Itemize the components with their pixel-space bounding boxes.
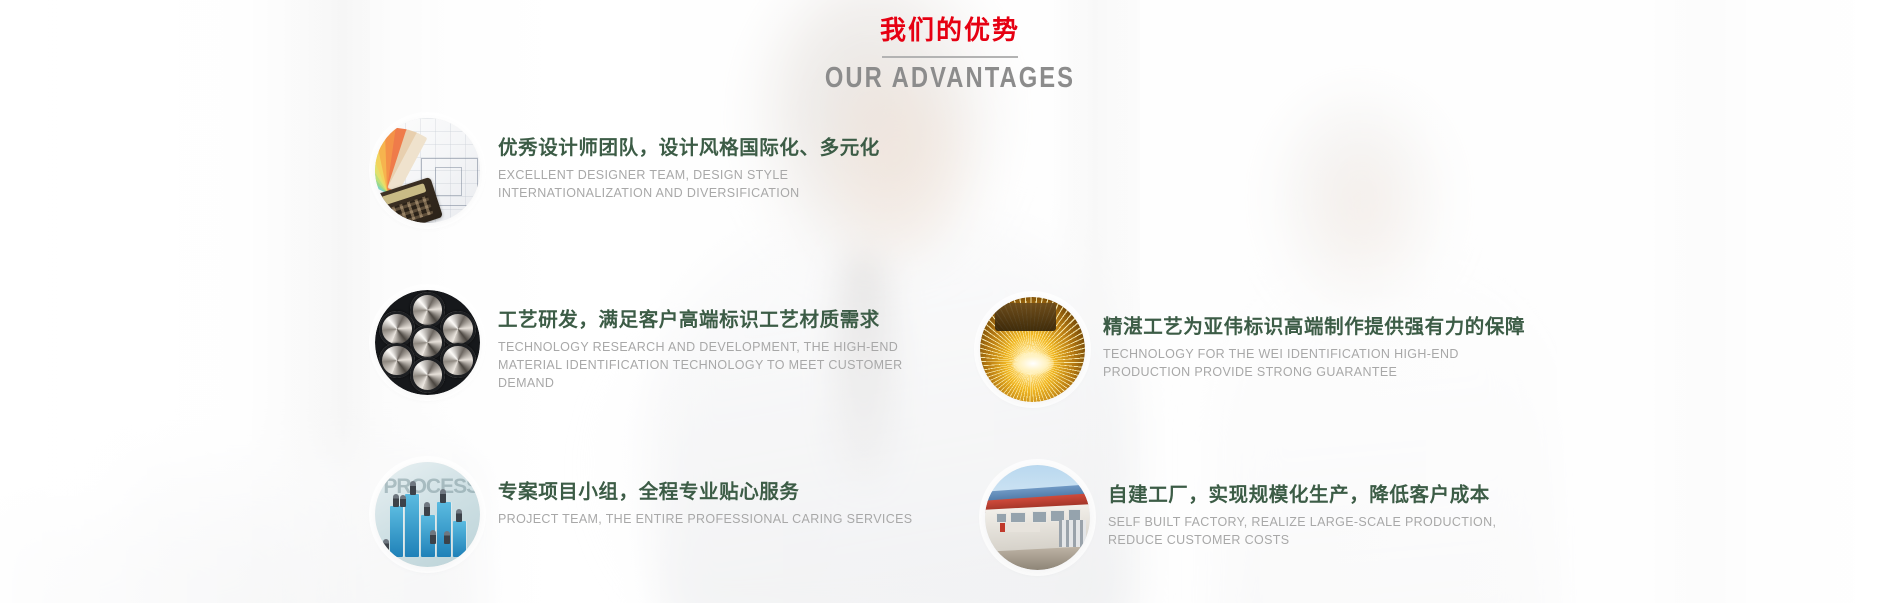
advantage-heading-cn: 优秀设计师团队，设计风格国际化、多元化 xyxy=(498,137,938,160)
section-header: 我们的优势 OUR ADVANTAGES xyxy=(0,16,1900,95)
factory-building-icon xyxy=(985,465,1090,570)
laser-welding-sparks-icon xyxy=(980,297,1085,402)
color-swatch-blueprint-icon xyxy=(375,118,480,223)
advantage-heading-en: EXCELLENT DESIGNER TEAM, DESIGN STYLE IN… xyxy=(498,167,938,203)
business-growth-chart-icon: PROCESS xyxy=(375,462,480,567)
advantage-heading-cn: 专案项目小组，全程专业贴心服务 xyxy=(498,481,912,504)
page-title-cn: 我们的优势 xyxy=(0,16,1900,46)
advantage-item-craftsmanship[interactable]: 精湛工艺为亚伟标识高端制作提供强有力的保障 TECHNOLOGY FOR THE… xyxy=(980,297,1533,402)
advantage-item-designer-team[interactable]: 优秀设计师团队，设计风格国际化、多元化 EXCELLENT DESIGNER T… xyxy=(375,118,938,223)
title-divider xyxy=(882,56,1018,58)
advantage-item-technology-rd[interactable]: 工艺研发，满足客户高端标识工艺材质需求 TECHNOLOGY RESEARCH … xyxy=(375,290,938,395)
advantage-item-project-team[interactable]: PROCESS 专案项目小组，全程专业贴心服务 PROJECT TEAM, TH… xyxy=(375,462,912,567)
advantage-heading-en: TECHNOLOGY FOR THE WEI IDENTIFICATION HI… xyxy=(1103,346,1533,382)
page-title-en: OUR ADVANTAGES xyxy=(171,62,1729,95)
advantage-heading-en: PROJECT TEAM, THE ENTIRE PROFESSIONAL CA… xyxy=(498,511,912,529)
advantage-heading-en: SELF BUILT FACTORY, REALIZE LARGE-SCALE … xyxy=(1108,514,1538,550)
metal-tubes-icon xyxy=(375,290,480,395)
advantage-heading-cn: 精湛工艺为亚伟标识高端制作提供强有力的保障 xyxy=(1103,316,1533,339)
advantage-heading-cn: 工艺研发，满足客户高端标识工艺材质需求 xyxy=(498,309,938,332)
advantage-heading-cn: 自建工厂，实现规模化生产，降低客户成本 xyxy=(1108,484,1538,507)
advantage-item-own-factory[interactable]: 自建工厂，实现规模化生产，降低客户成本 SELF BUILT FACTORY, … xyxy=(985,465,1538,570)
advantage-heading-en: TECHNOLOGY RESEARCH AND DEVELOPMENT, THE… xyxy=(498,339,938,392)
